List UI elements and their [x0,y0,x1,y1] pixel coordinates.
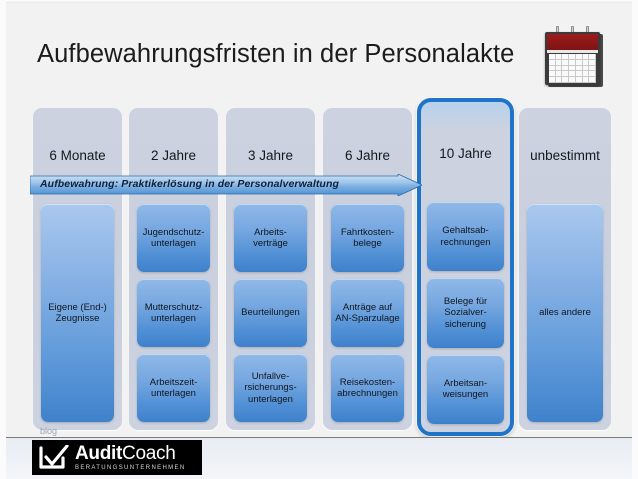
retention-column-3-jahre[interactable]: 3 Jahre Arbeits- verträge Beurteilungen … [226,108,315,430]
retention-column-6-jahre[interactable]: 6 Jahre Fahrtkosten- belege Anträge auf … [323,108,412,430]
slide-right-edge [632,0,638,479]
column-items: alles andere [527,204,603,422]
item-box[interactable]: Belege für Sozialver- sicherung [427,278,504,347]
auditcoach-logo[interactable]: AuditCoach BERATUNGSUNTERNEHMEN [32,440,202,475]
item-box[interactable]: Gehaltsab- rechnungen [427,202,504,271]
column-header: 2 Jahre [129,148,218,163]
item-box[interactable]: Mutterschutz- unterlagen [137,279,210,347]
slide-title: Aufbewahrungsfristen in der Personalakte [37,40,514,69]
arrow-banner: Aufbewahrung: Praktikerlösung in der Per… [30,174,422,196]
column-items: Jugendschutz- unterlagen Mutterschutz- u… [137,204,210,422]
column-header: 10 Jahre [421,146,510,161]
item-box[interactable]: Reisekosten- abrechnungen [331,354,404,422]
slide-left-edge [0,0,6,479]
column-header: 6 Jahre [323,148,412,163]
slide-top-edge [0,0,638,3]
footer-divider [6,437,632,438]
column-items: Eigene (End-) Zeugnisse [41,204,114,422]
blog-label: blog [40,426,57,436]
item-box[interactable]: Arbeits- verträge [234,204,307,272]
item-box[interactable]: Beurteilungen [234,279,307,347]
retention-column-2-jahre[interactable]: 2 Jahre Jugendschutz- unterlagen Mutters… [129,108,218,430]
retention-column-6-monate[interactable]: 6 Monate Eigene (End-) Zeugnisse [33,108,122,430]
slide-canvas: Aufbewahrungsfristen in der Personalakte… [0,0,638,479]
item-box[interactable]: Fahrtkosten- belege [331,204,404,272]
retention-column-unbestimmt[interactable]: unbestimmt alles andere [519,108,611,430]
logo-name-bold: Audit [75,443,122,464]
checkmark-box-icon [37,445,71,471]
item-box[interactable]: Jugendschutz- unterlagen [137,204,210,272]
calendar-icon [545,30,603,87]
logo-name-light: Coach [122,443,175,464]
column-header: 3 Jahre [226,148,315,163]
item-box[interactable]: Arbeitszeit- unterlagen [137,354,210,422]
column-items: Arbeits- verträge Beurteilungen Unfallve… [234,204,307,422]
column-header: 6 Monate [33,148,122,163]
logo-subtitle: BERATUNGSUNTERNEHMEN [75,465,186,471]
item-box[interactable]: Anträge auf AN-Sparzulage [331,279,404,347]
retention-column-10-jahre[interactable]: 10 Jahre Gehaltsab- rechnungen Belege fü… [417,98,514,436]
column-items: Gehaltsab- rechnungen Belege für Sozialv… [427,202,504,424]
column-items: Fahrtkosten- belege Anträge auf AN-Sparz… [331,204,404,422]
arrow-banner-label: Aufbewahrung: Praktikerlösung in der Per… [40,178,339,190]
item-box[interactable]: Unfallve- rsicherungs- unterlagen [234,354,307,422]
item-box[interactable]: alles andere [527,204,603,422]
item-box[interactable]: Eigene (End-) Zeugnisse [41,204,114,422]
column-header: unbestimmt [519,148,611,163]
item-box[interactable]: Arbeitsan- weisungen [427,355,504,424]
